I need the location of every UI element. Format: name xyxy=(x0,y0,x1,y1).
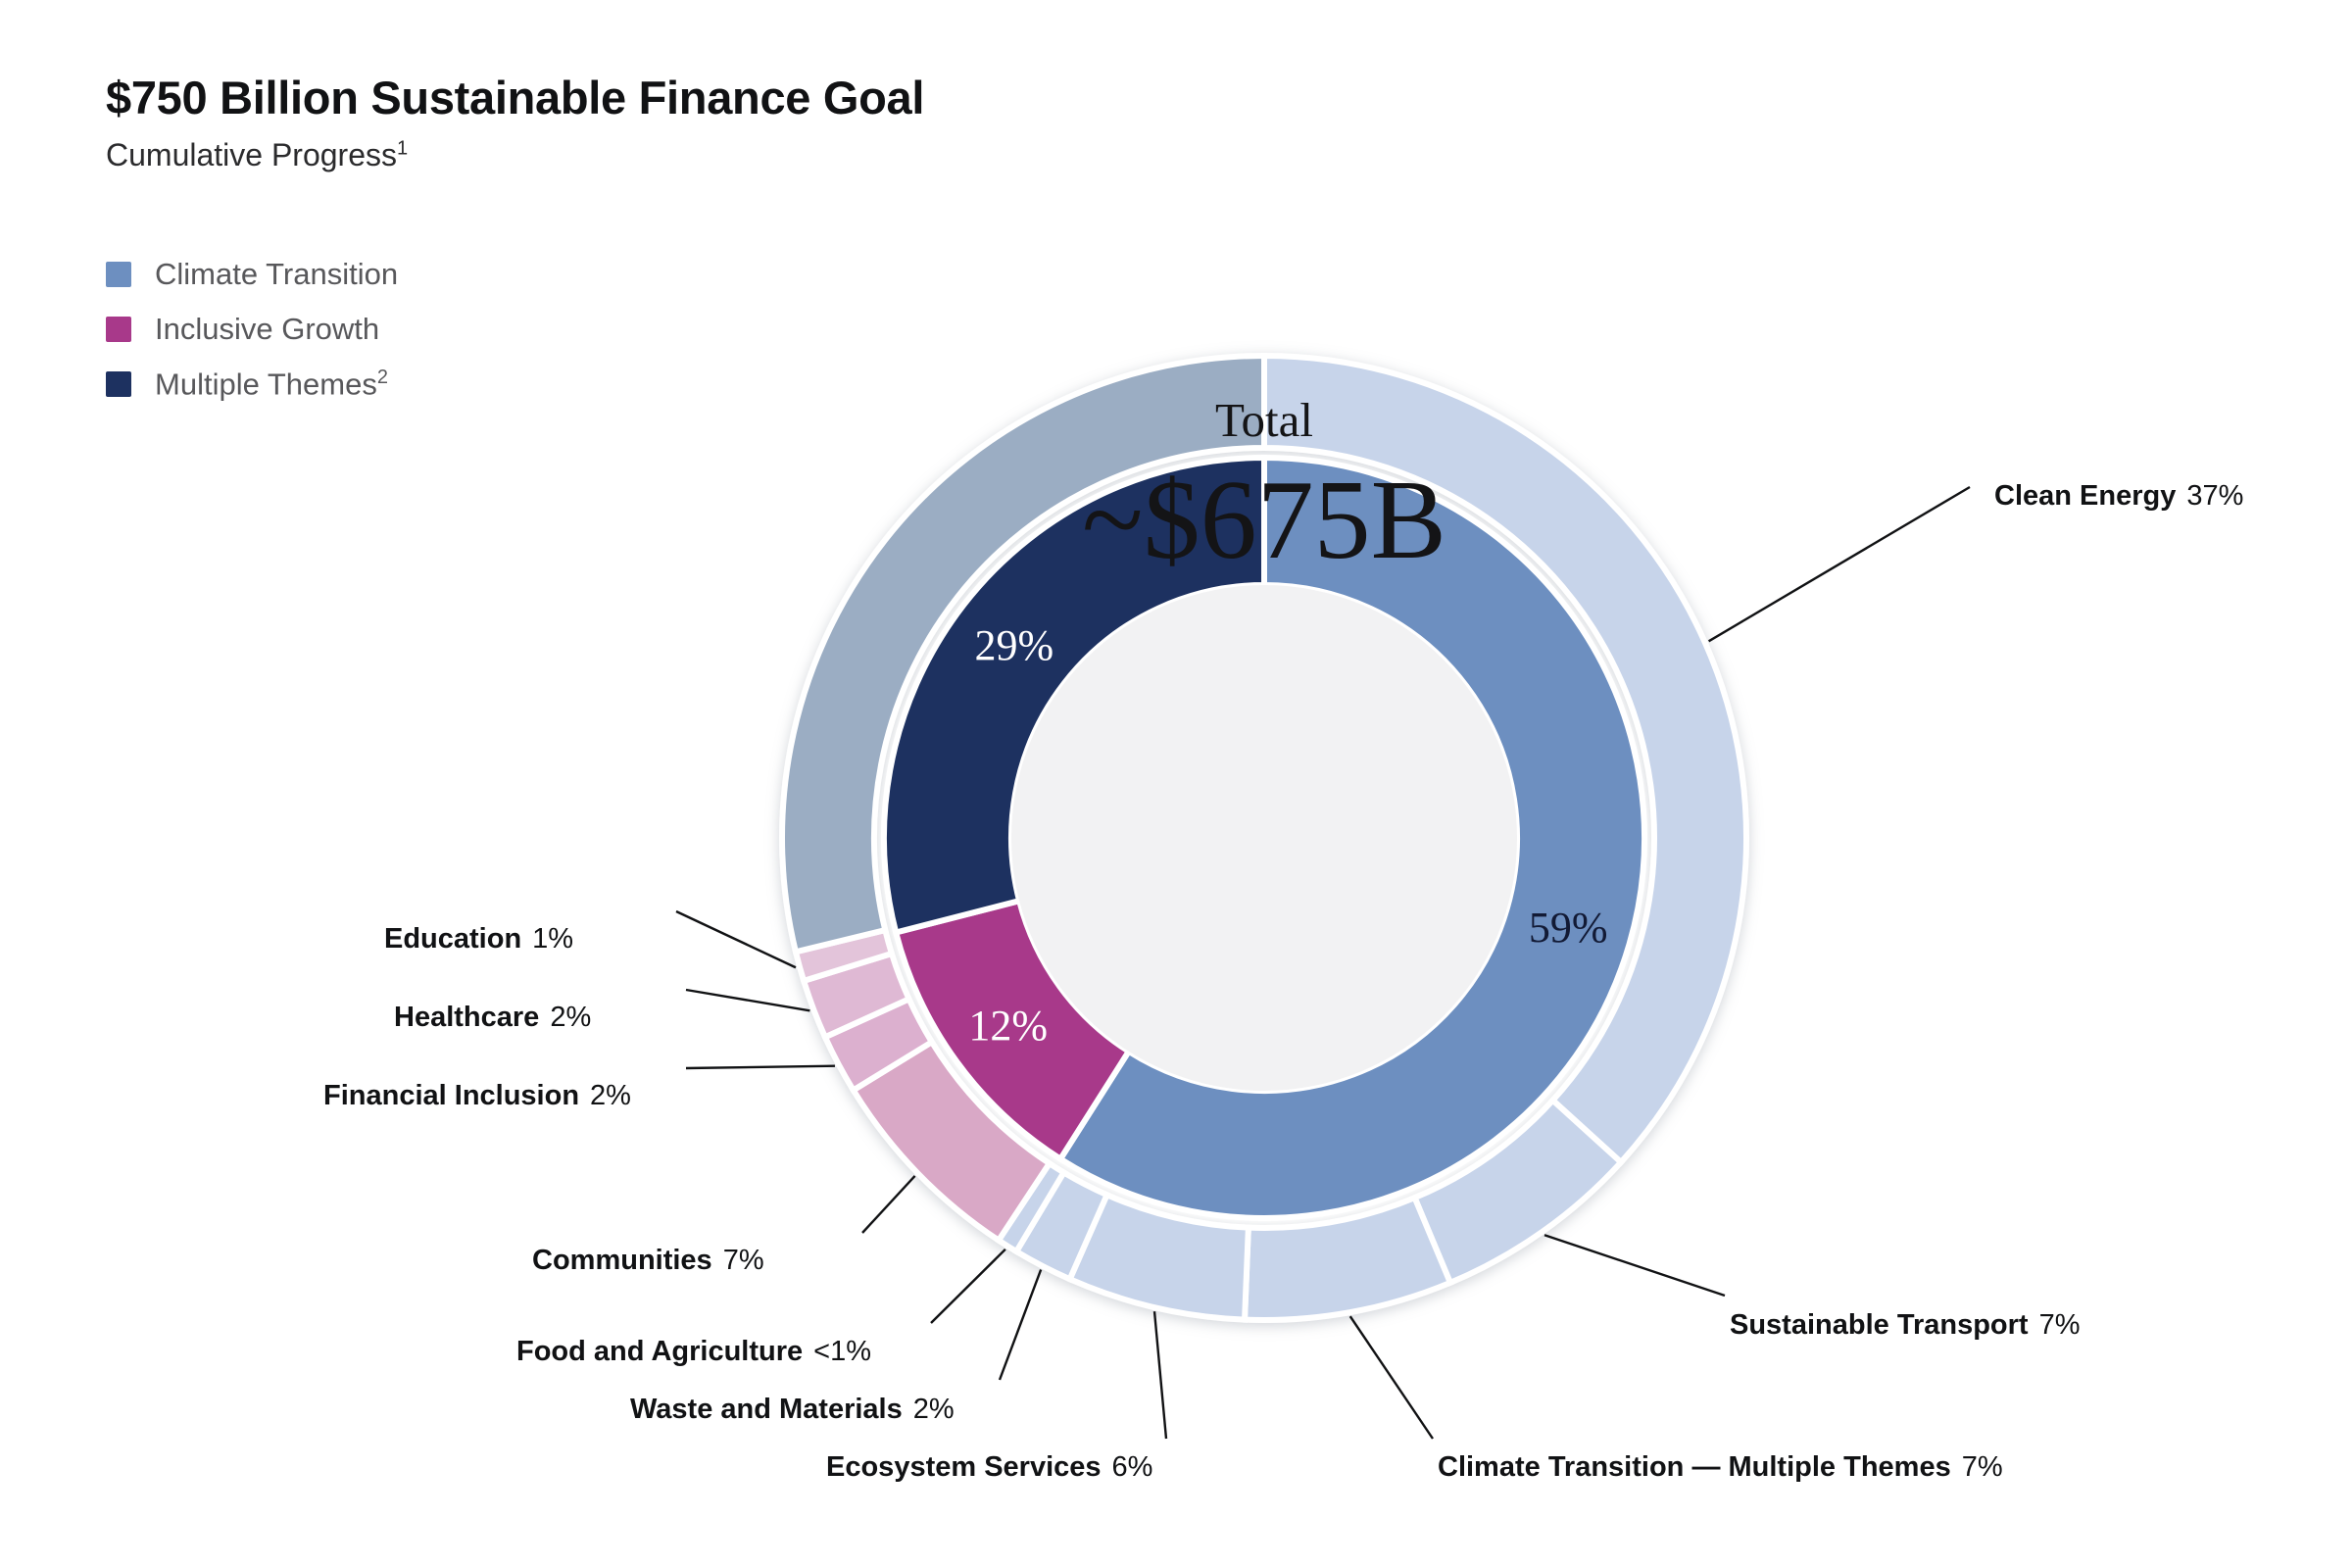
inner-ring-value-label: 59% xyxy=(1529,904,1608,952)
callout-label: Food and Agriculture xyxy=(516,1336,803,1367)
callout-leader-line xyxy=(686,990,809,1010)
callout-value: <1% xyxy=(813,1336,871,1367)
callout-label: Clean Energy xyxy=(1994,480,2176,512)
callout-label: Education xyxy=(384,923,521,955)
callout-leader-line xyxy=(1709,487,1970,641)
callout-leader-line xyxy=(676,911,796,967)
callout-leader-line xyxy=(1350,1316,1433,1439)
callout-label: Ecosystem Services xyxy=(826,1451,1102,1483)
callout-leader-line xyxy=(686,1066,835,1068)
callout-food-and-agriculture[interactable]: Food and Agriculture<1% xyxy=(516,1338,871,1366)
callout-label: Financial Inclusion xyxy=(323,1080,579,1111)
inner-ring-value-label: 29% xyxy=(974,621,1053,669)
callout-education[interactable]: Education1% xyxy=(384,925,573,954)
callout-waste-and-materials[interactable]: Waste and Materials2% xyxy=(630,1396,955,1424)
callout-leader-line xyxy=(931,1249,1005,1323)
callout-value: 6% xyxy=(1112,1451,1153,1483)
callout-label: Sustainable Transport xyxy=(1730,1309,2029,1341)
callout-sustainable-transport[interactable]: Sustainable Transport7% xyxy=(1730,1311,2081,1340)
callout-climate-transition-multiple-themes[interactable]: Climate Transition — Multiple Themes7% xyxy=(1438,1453,2003,1482)
callout-value: 7% xyxy=(723,1245,764,1276)
center-total-value: ~$675B xyxy=(1019,456,1509,586)
callout-value: 37% xyxy=(2186,480,2243,512)
callout-communities[interactable]: Communities7% xyxy=(532,1247,764,1275)
callout-leader-line xyxy=(862,1176,915,1233)
callout-label: Communities xyxy=(532,1245,712,1276)
inner-ring-value-label: 12% xyxy=(968,1002,1048,1050)
callout-value: 2% xyxy=(550,1002,591,1033)
callout-value: 2% xyxy=(590,1080,631,1111)
callout-value: 1% xyxy=(532,923,573,955)
callout-clean-energy[interactable]: Clean Energy37% xyxy=(1994,482,2243,511)
callout-financial-inclusion[interactable]: Financial Inclusion2% xyxy=(323,1082,631,1110)
callout-healthcare[interactable]: Healthcare2% xyxy=(394,1004,591,1032)
callout-leader-line xyxy=(1544,1235,1725,1296)
callout-leader-line xyxy=(1000,1270,1041,1380)
donut-center-hole xyxy=(1011,585,1517,1091)
callout-leader-line xyxy=(1154,1311,1166,1439)
callout-value: 7% xyxy=(2039,1309,2081,1341)
callout-label: Climate Transition — Multiple Themes xyxy=(1438,1451,1951,1483)
callout-value: 2% xyxy=(913,1394,955,1425)
callout-label: Waste and Materials xyxy=(630,1394,903,1425)
callout-label: Healthcare xyxy=(394,1002,539,1033)
callout-ecosystem-services[interactable]: Ecosystem Services6% xyxy=(826,1453,1152,1482)
callout-value: 7% xyxy=(1962,1451,2003,1483)
center-total-label: Total xyxy=(1019,392,1509,448)
